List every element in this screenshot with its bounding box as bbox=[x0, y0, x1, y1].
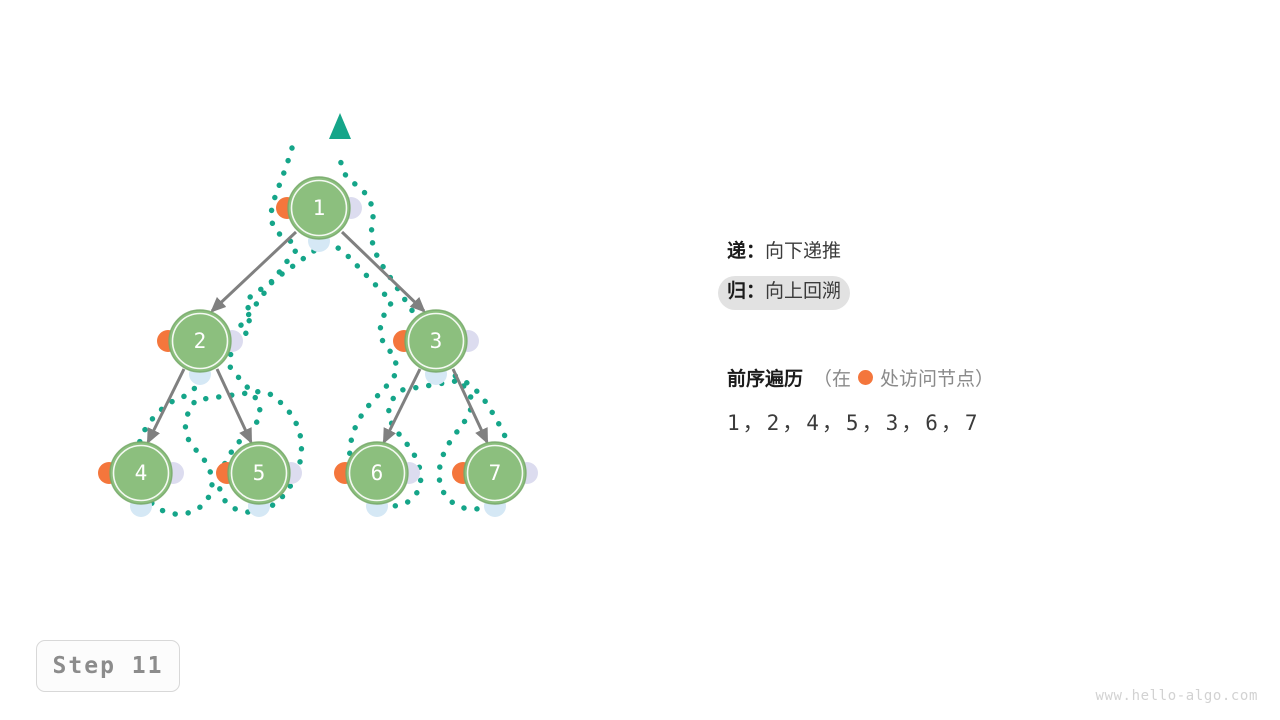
tree-node-5[interactable]: 5 bbox=[216, 442, 302, 517]
node-label: 2 bbox=[194, 329, 207, 353]
legend-panel: 递： 向下递推 归： 向上回溯 bbox=[727, 236, 1187, 310]
edge-n2-n4 bbox=[148, 369, 184, 442]
traversal-order-sequence: 1，2，4，5，3，6，7 bbox=[727, 407, 1197, 437]
tree-node-4[interactable]: 4 bbox=[98, 442, 184, 517]
traversal-order-title-row: 前序遍历 （在 处访问节点） bbox=[727, 364, 1197, 391]
node-label: 4 bbox=[135, 461, 148, 485]
traversal-order-block: 前序遍历 （在 处访问节点） 1，2，4，5，3，6，7 bbox=[727, 364, 1197, 437]
visit-dot-icon bbox=[858, 370, 873, 385]
recursion-tree-diagram: 1 2 3 4 bbox=[0, 0, 660, 600]
traversal-note-prefix: （在 bbox=[813, 364, 851, 391]
watermark: www.hello-algo.com bbox=[1095, 688, 1258, 704]
step-badge: Step 11 bbox=[36, 640, 180, 692]
legend-return-keyword: 归： bbox=[727, 281, 765, 303]
node-label: 1 bbox=[313, 196, 326, 220]
current-position-pointer bbox=[329, 113, 351, 139]
node-label: 6 bbox=[371, 461, 384, 485]
tree-node-6[interactable]: 6 bbox=[334, 442, 420, 517]
legend-recurse-text: 向下递推 bbox=[765, 241, 841, 263]
edge-n3-n6 bbox=[384, 369, 420, 442]
legend-item-return: 归： 向上回溯 bbox=[718, 276, 850, 310]
tree-node-2[interactable]: 2 bbox=[157, 310, 243, 385]
traversal-order-title: 前序遍历 bbox=[727, 364, 803, 391]
tree-nodes: 1 2 3 4 bbox=[98, 177, 538, 517]
node-label: 5 bbox=[253, 461, 266, 485]
node-label: 7 bbox=[489, 461, 502, 485]
legend-item-recurse: 递： 向下递推 bbox=[718, 236, 1187, 270]
traversal-note-suffix: 处访问节点） bbox=[880, 364, 994, 391]
node-label: 3 bbox=[430, 329, 443, 353]
legend-return-text: 向上回溯 bbox=[765, 281, 841, 303]
legend-recurse-keyword: 递： bbox=[727, 241, 765, 263]
tree-node-3[interactable]: 3 bbox=[393, 310, 479, 385]
edge-n1-n3 bbox=[342, 232, 424, 311]
edge-n2-n5 bbox=[217, 369, 251, 442]
